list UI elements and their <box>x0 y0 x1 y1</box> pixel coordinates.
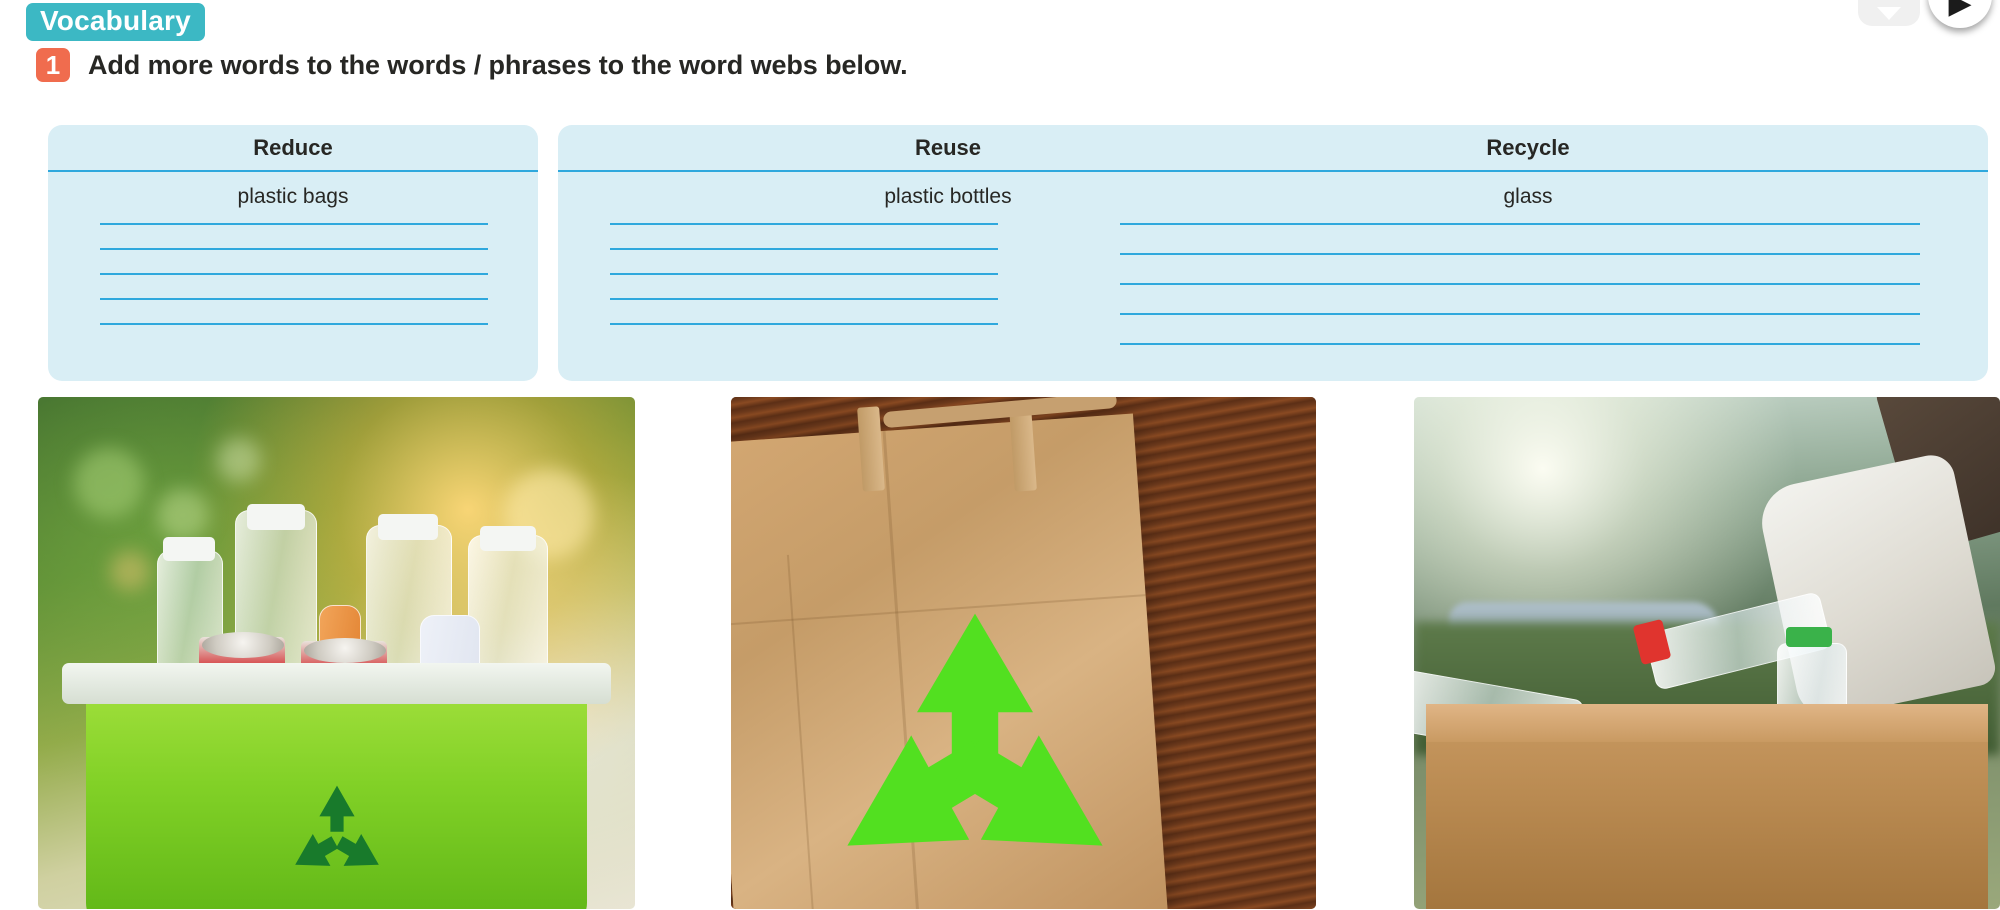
can-top <box>304 638 386 663</box>
bag-crease <box>787 555 818 909</box>
worksheet-page: Vocabulary 1 Add more words to the words… <box>0 0 2000 910</box>
word-webs-row: Reduce plastic bags Reuse plastic bottle… <box>0 125 2000 383</box>
answer-line[interactable] <box>1120 223 1920 225</box>
photo-recycling-bin <box>38 397 635 909</box>
answer-line[interactable] <box>610 273 998 275</box>
bottle-cap <box>1786 627 1832 647</box>
word-web-recycle: Recycle glass <box>1068 125 1988 381</box>
recycle-symbol-icon <box>277 779 397 889</box>
word-web-seed-word: glass <box>1068 172 1988 217</box>
answer-line[interactable] <box>610 248 998 250</box>
answer-line[interactable] <box>100 248 488 250</box>
bottle-cap <box>163 537 215 561</box>
photo-sorting-bottles <box>1414 397 2000 909</box>
photo-row <box>0 397 2000 910</box>
recycling-bin-lip <box>62 663 611 704</box>
answer-line[interactable] <box>100 323 488 325</box>
bottle-cap <box>247 504 305 530</box>
word-web-answer-lines[interactable] <box>1068 217 1988 345</box>
answer-line[interactable] <box>1120 253 1920 255</box>
answer-line[interactable] <box>1120 313 1920 315</box>
audio-play-button[interactable]: ▶ <box>1928 0 1992 28</box>
bokeh-dot <box>217 438 261 482</box>
answer-line[interactable] <box>610 298 998 300</box>
recycle-symbol-icon <box>825 602 1125 892</box>
chevron-down-icon[interactable] <box>1858 0 1920 26</box>
play-icon: ▶ <box>1948 0 1971 19</box>
exercise-number-badge: 1 <box>36 48 70 82</box>
answer-line[interactable] <box>100 273 488 275</box>
can-top <box>202 632 284 658</box>
word-web-seed-word: plastic bags <box>48 172 538 217</box>
cardboard-box-flap <box>1426 704 1989 742</box>
answer-line[interactable] <box>1120 343 1920 345</box>
bokeh-dot <box>110 551 150 591</box>
exercise-instruction: Add more words to the words / phrases to… <box>88 50 908 81</box>
bokeh-dot <box>74 448 144 518</box>
answer-line[interactable] <box>610 323 998 325</box>
chevron-down-glyph <box>1877 7 1901 20</box>
word-web-title: Recycle <box>1068 135 1988 170</box>
bottle-cap <box>480 526 536 551</box>
word-web-title: Reduce <box>48 135 538 170</box>
answer-line[interactable] <box>610 223 998 225</box>
word-web-reduce: Reduce plastic bags <box>48 125 538 381</box>
vocabulary-section-badge: Vocabulary <box>26 3 205 41</box>
answer-line[interactable] <box>100 223 488 225</box>
exercise-header: 1 Add more words to the words / phrases … <box>36 48 908 82</box>
answer-line[interactable] <box>1120 283 1920 285</box>
answer-line[interactable] <box>100 298 488 300</box>
cardboard-box <box>1426 704 1989 909</box>
bottle-cap <box>378 514 438 540</box>
photo-paper-bag <box>731 397 1316 909</box>
word-web-answer-lines[interactable] <box>48 217 538 325</box>
